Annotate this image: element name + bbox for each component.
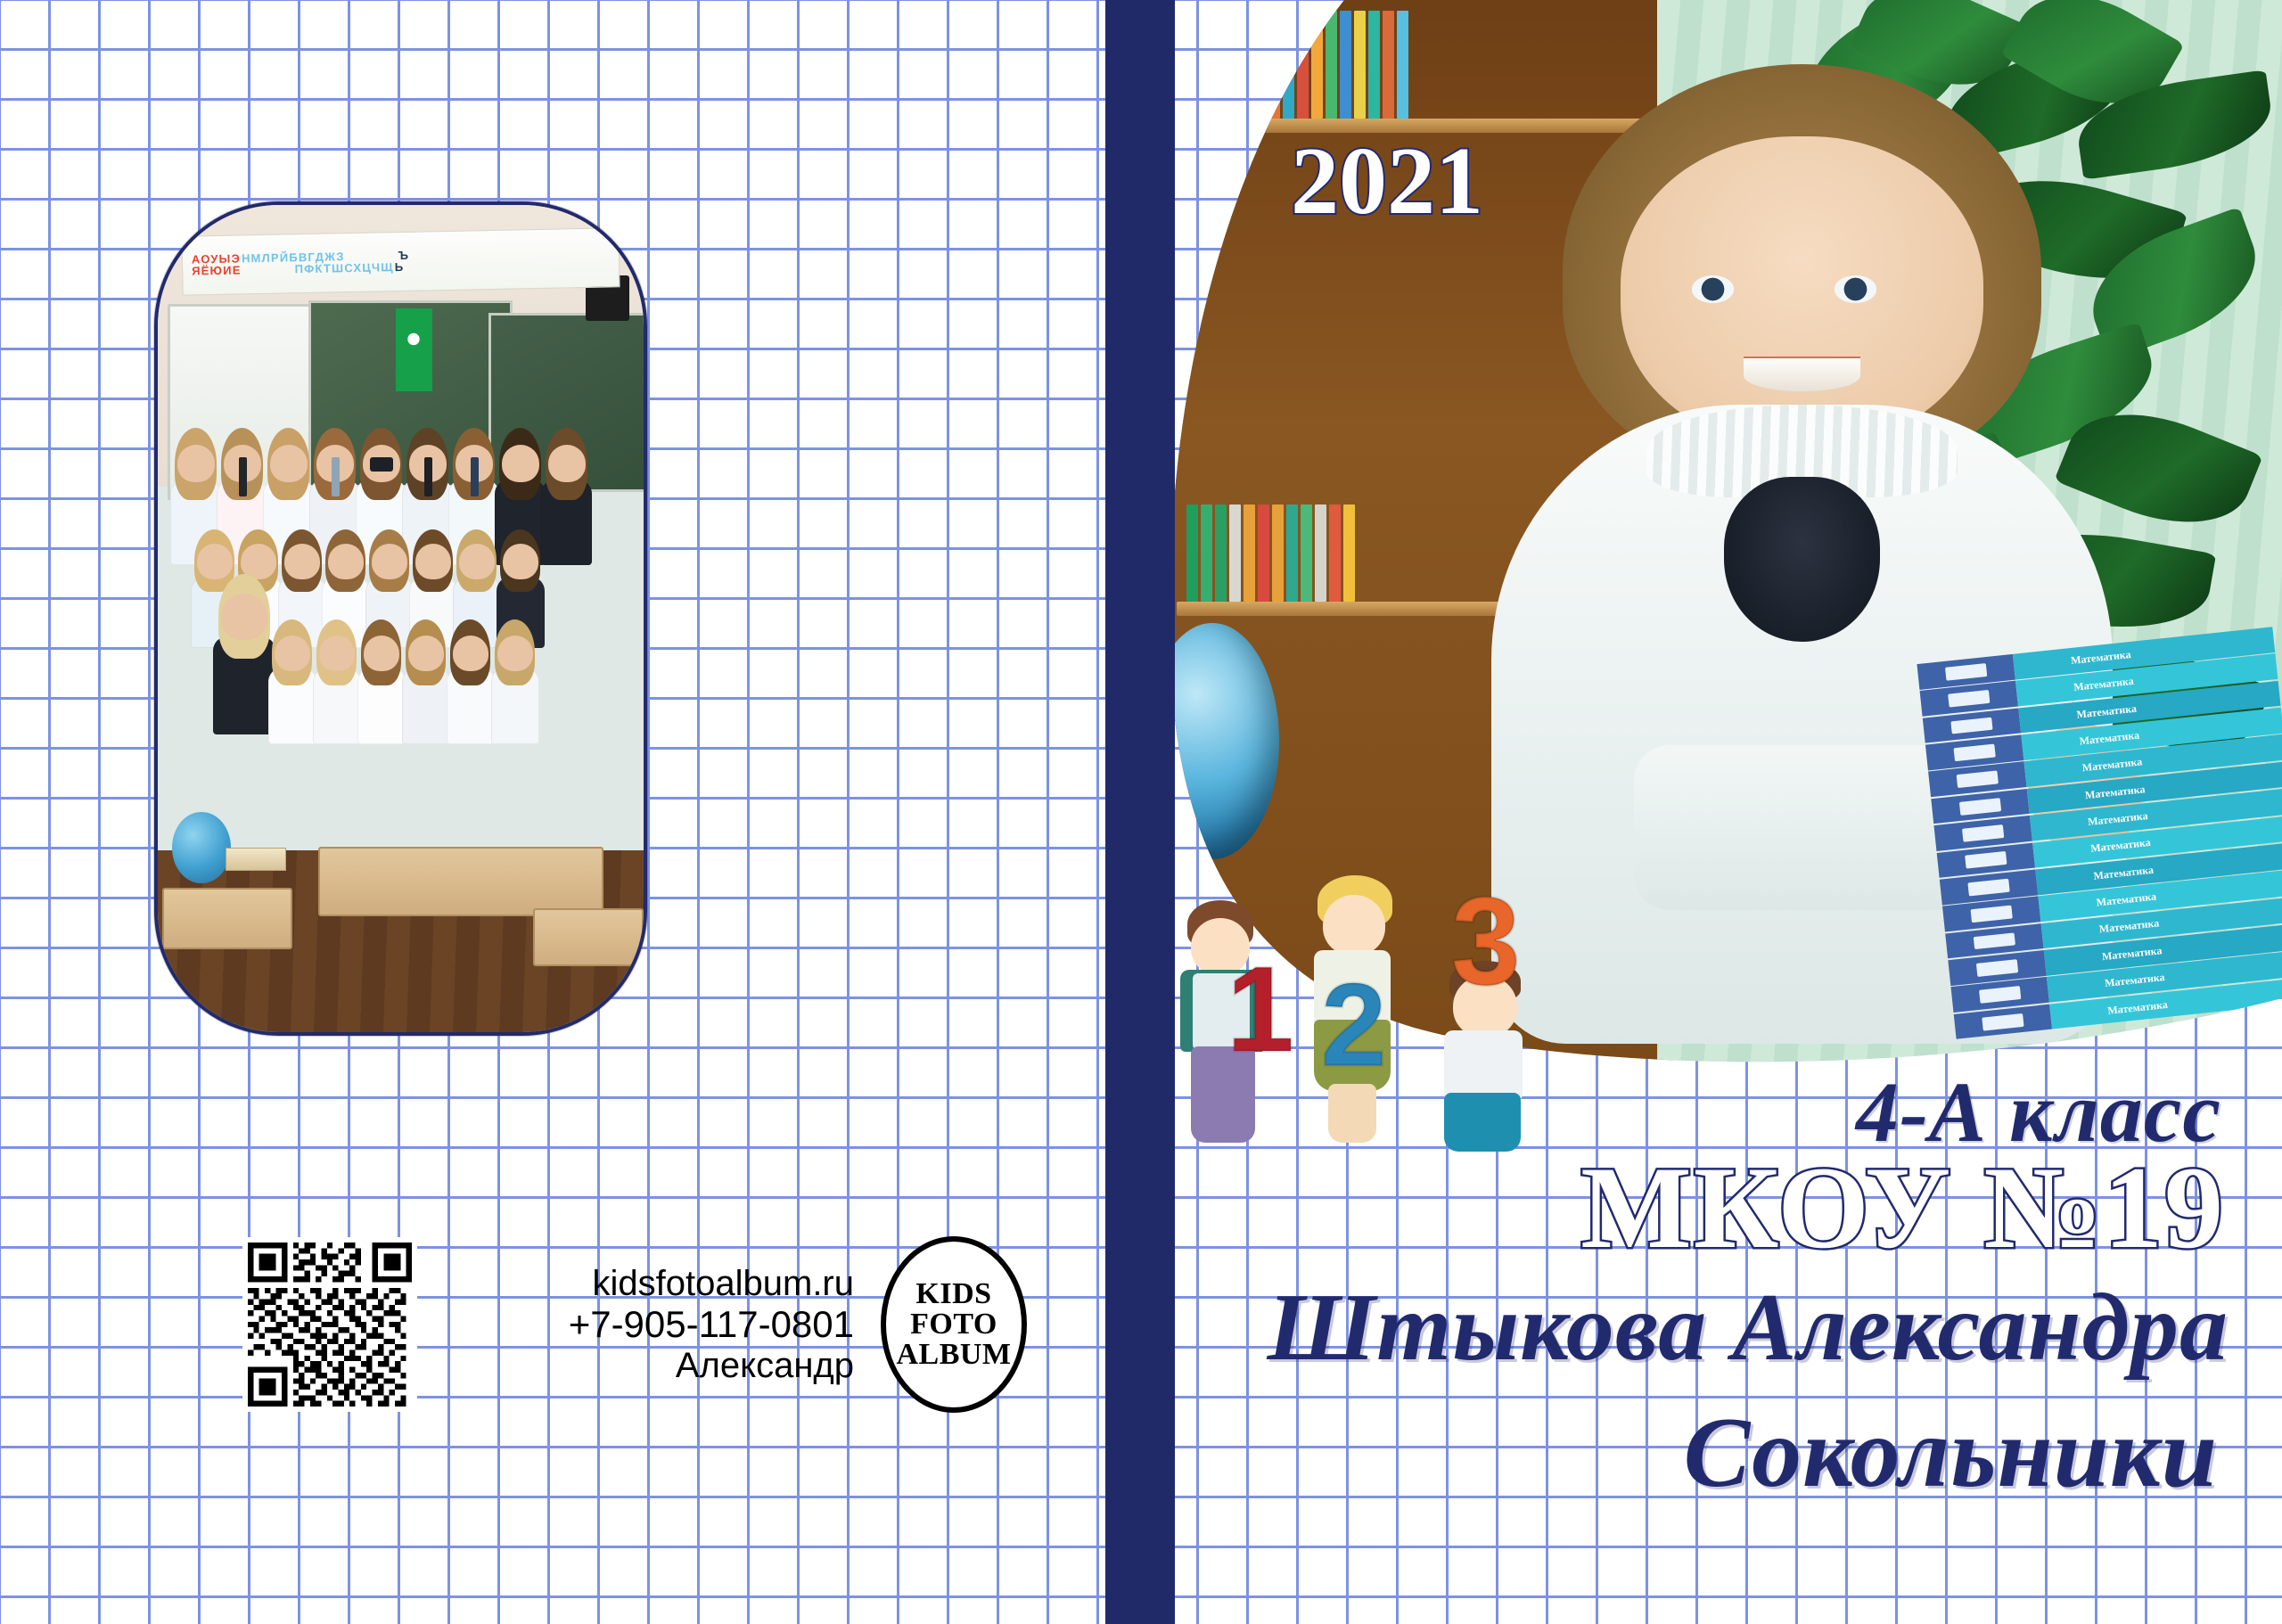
- book-spine-label: Математика: [2101, 944, 2163, 964]
- book-spine-label: Математика: [2084, 783, 2146, 802]
- book-pile: [226, 848, 285, 871]
- book-spine-label: Математика: [2090, 836, 2152, 856]
- desk-right: [533, 908, 644, 965]
- students-front-row: [275, 636, 624, 745]
- alphabet-row2-blue: ПФКТШСХЦЧЩ: [295, 261, 394, 275]
- book-spine-label: Математика: [2076, 701, 2138, 721]
- alphabet-gap-2: [242, 269, 294, 270]
- contact-details: kidsfotoalbum.ru +7-905-117-0801 Алексан…: [437, 1264, 861, 1386]
- album-spine: [1105, 0, 1175, 1624]
- paper-flower: [403, 323, 425, 356]
- student-name: Штыкова Александра: [1175, 1273, 2229, 1383]
- number-card-1: 1: [1227, 948, 1294, 1070]
- book-spine-label: Математика: [2070, 648, 2131, 668]
- number-card-3: 3: [1451, 879, 1521, 1004]
- classroom-globe: [1166, 623, 1279, 859]
- book-spine-label: Математика: [2104, 971, 2165, 990]
- class-photo-scene: АОУЫЭ НМЛРЙБВГДЖЗ Ъ ЯЁЮИЕ ПФКТШСХЦЧЩ Ь: [158, 205, 644, 1032]
- book-spine-label: Математика: [2079, 728, 2140, 748]
- alphabet-row2-red: ЯЁЮИЕ: [192, 265, 242, 277]
- book-spine-label: Математика: [2073, 675, 2135, 694]
- kids-foto-album-logo: KIDS FOTO ALBUM: [881, 1236, 1027, 1413]
- class-group-photo: АОУЫЭ НМЛРЙБВГДЖЗ Ъ ЯЁЮИЕ ПФКТШСХЦЧЩ Ь: [154, 201, 647, 1036]
- girl-smile: [1744, 358, 1860, 391]
- place-name: Сокольники: [1175, 1396, 2218, 1511]
- qr-code[interactable]: [242, 1237, 417, 1412]
- shelf-books-bottom: [1186, 504, 1525, 601]
- book-spine-label: Математика: [2087, 809, 2148, 829]
- contact-person: Александр: [437, 1346, 854, 1386]
- math-book-stack: Математика Математика Математика Математ…: [1917, 627, 2282, 1048]
- book-spine-label: Математика: [2093, 863, 2155, 882]
- book-spine-label: Математика: [2096, 890, 2157, 910]
- book-spine-label: Математика: [2098, 917, 2160, 937]
- book-spine-label: Математика: [2107, 997, 2169, 1017]
- alphabet-chart: АОУЫЭ НМЛРЙБВГДЖЗ Ъ ЯЁЮИЕ ПФКТШСХЦЧЩ Ь: [182, 227, 620, 295]
- desk-front: [318, 847, 603, 916]
- contact-website[interactable]: kidsfotoalbum.ru: [437, 1264, 854, 1304]
- album-cover-page: АОУЫЭ НМЛРЙБВГДЖЗ Ъ ЯЁЮИЕ ПФКТШСХЦЧЩ Ь: [0, 0, 2282, 1624]
- logo-line-2: FOTO: [910, 1309, 997, 1340]
- logo-line-1: KIDS: [915, 1279, 991, 1309]
- back-cover-panel: АОУЫЭ НМЛРЙБВГДЖЗ Ъ ЯЁЮИЕ ПФКТШСХЦЧЩ Ь: [0, 0, 1105, 1624]
- globe: [172, 812, 230, 883]
- contact-phone[interactable]: +7-905-117-0801: [437, 1303, 854, 1345]
- desk-left: [162, 888, 292, 949]
- contact-block: kidsfotoalbum.ru +7-905-117-0801 Алексан…: [242, 1232, 1027, 1417]
- alphabet-row1-end: Ъ: [398, 250, 410, 261]
- book-spine-label: Математика: [2081, 756, 2143, 775]
- girl-face: [1621, 136, 1983, 446]
- year-label: 2021: [1291, 127, 1483, 237]
- girl-eye-right: [1835, 275, 1876, 302]
- school-name: МКОУ №19: [1175, 1139, 2225, 1275]
- girl-eye-left: [1692, 275, 1734, 302]
- girl-black-bow: [1724, 477, 1879, 642]
- teacher: [221, 594, 267, 734]
- alphabet-row2-end: Ь: [395, 261, 405, 273]
- logo-line-3: ALBUM: [896, 1340, 1011, 1370]
- alphabet-gap-1: [346, 256, 398, 257]
- front-cover-panel: Математика Математика Математика Математ…: [1175, 0, 2282, 1624]
